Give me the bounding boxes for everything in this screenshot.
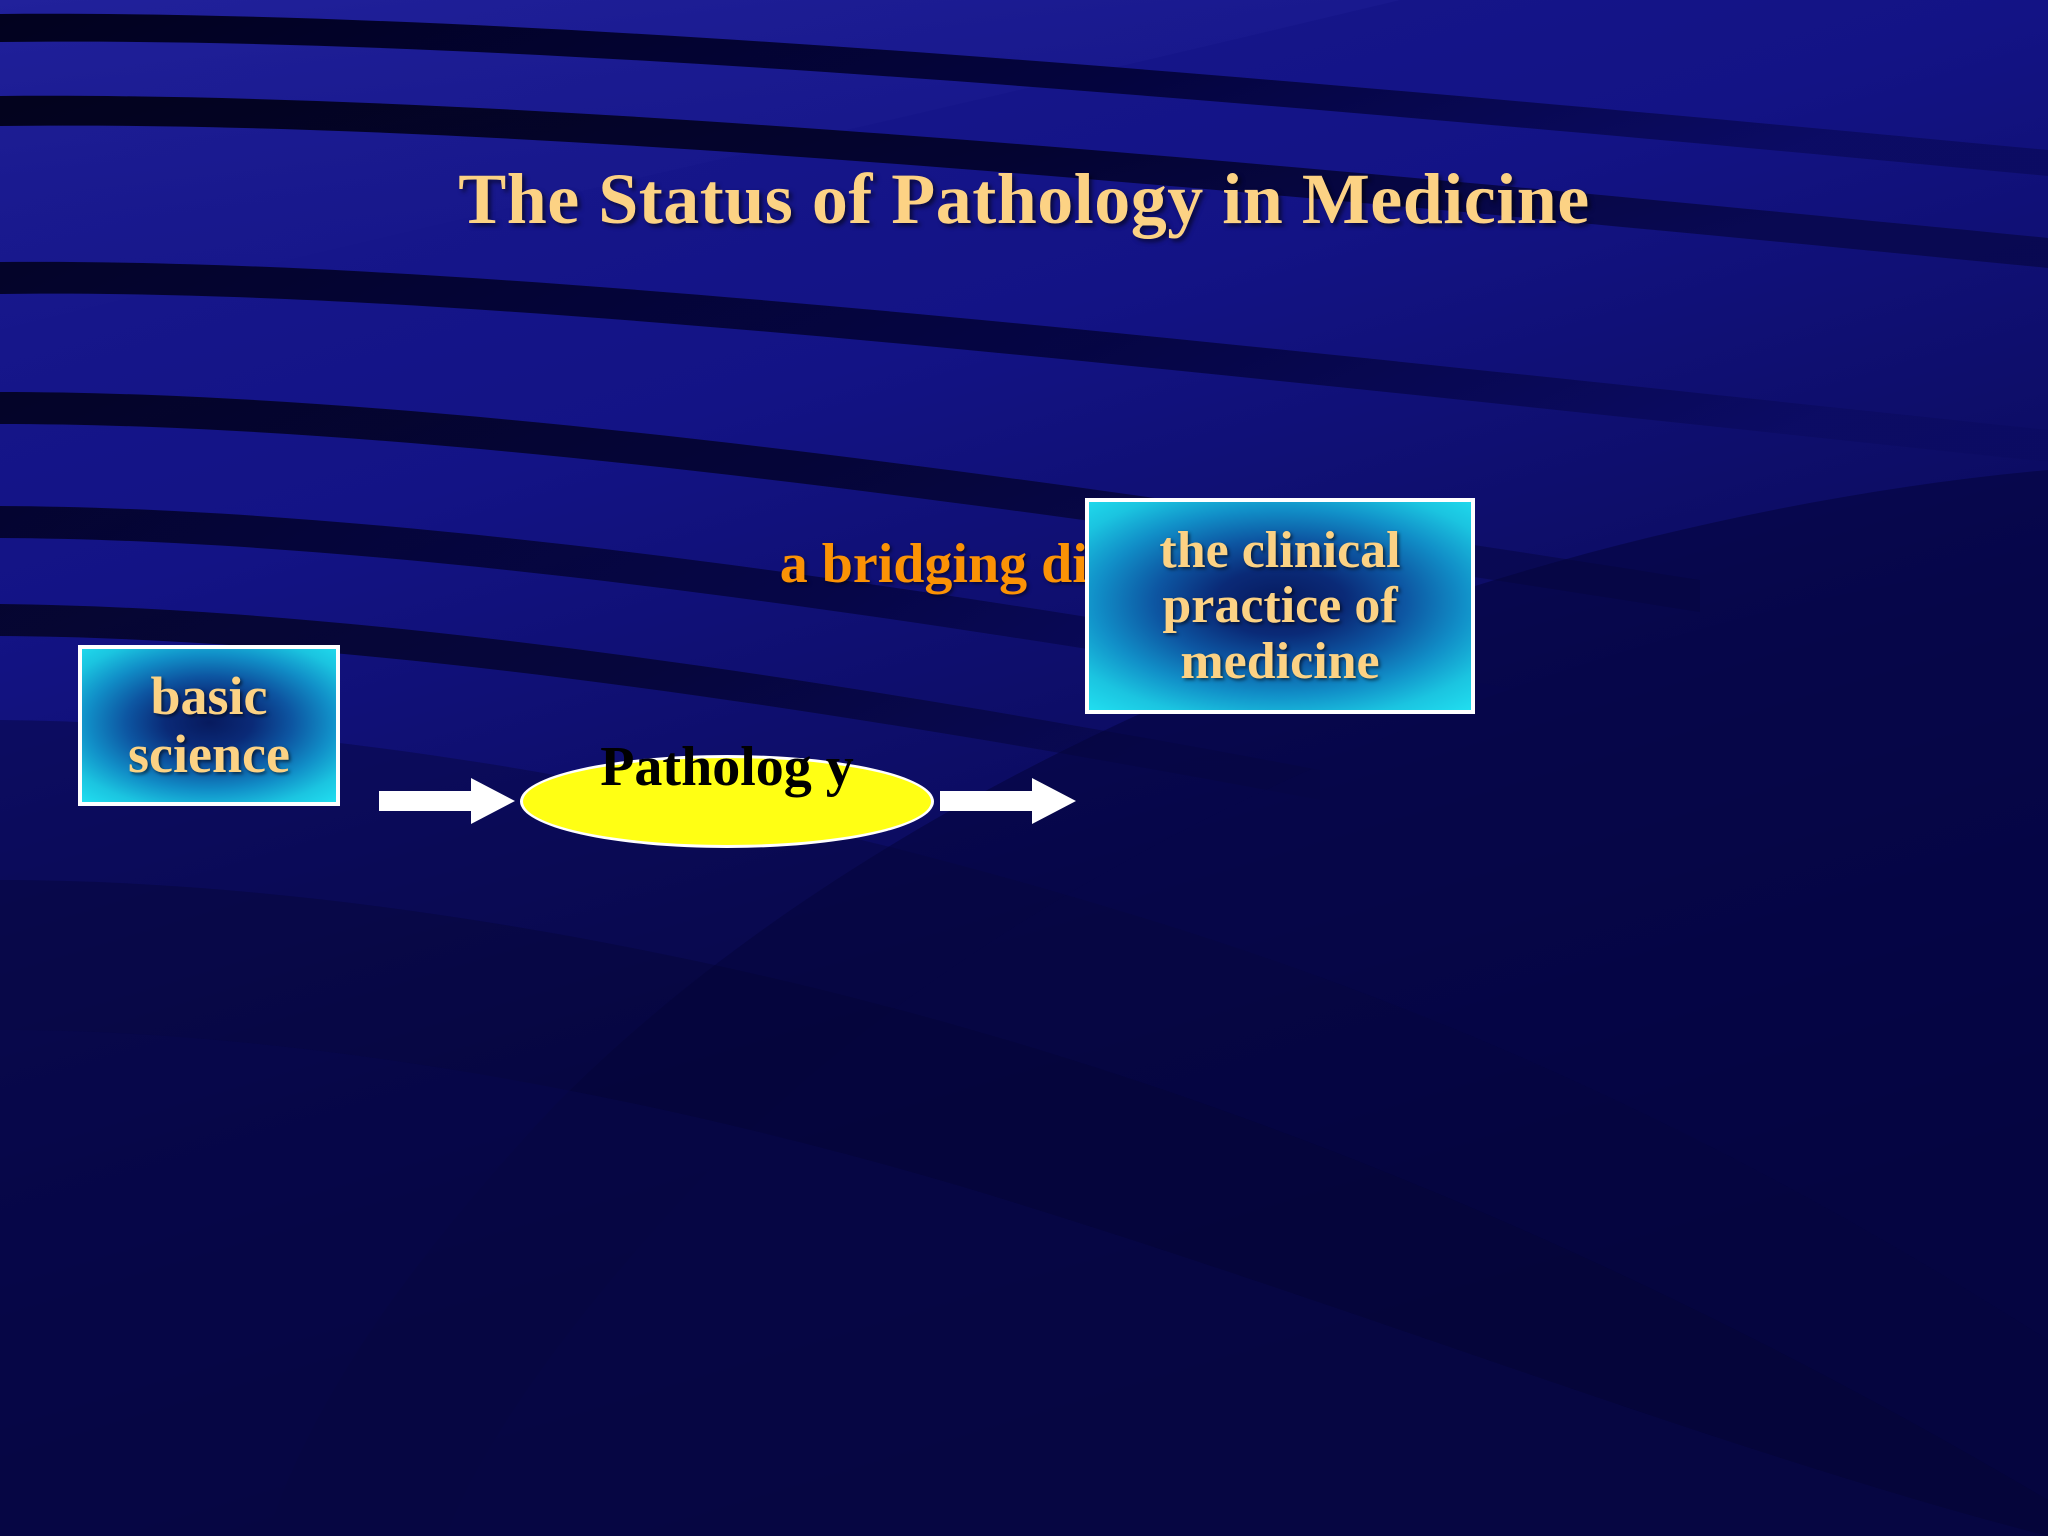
basic-science-label: basic science <box>82 668 336 782</box>
bridging-diagram: basic science Patholog y the clinical pr… <box>0 0 2048 1536</box>
arrow-basic-to-pathology-icon <box>379 778 515 824</box>
arrow-pathology-to-clinical-icon <box>940 778 1076 824</box>
diagram-box-basic-science[interactable]: basic science <box>78 645 340 806</box>
diagram-box-clinical-practice[interactable]: the clinical practice of medicine <box>1085 498 1475 714</box>
presentation-slide: The Status of Pathology in Medicine a br… <box>0 0 2048 1536</box>
clinical-practice-label: the clinical practice of medicine <box>1089 523 1471 688</box>
diagram-node-pathology[interactable] <box>520 755 934 848</box>
